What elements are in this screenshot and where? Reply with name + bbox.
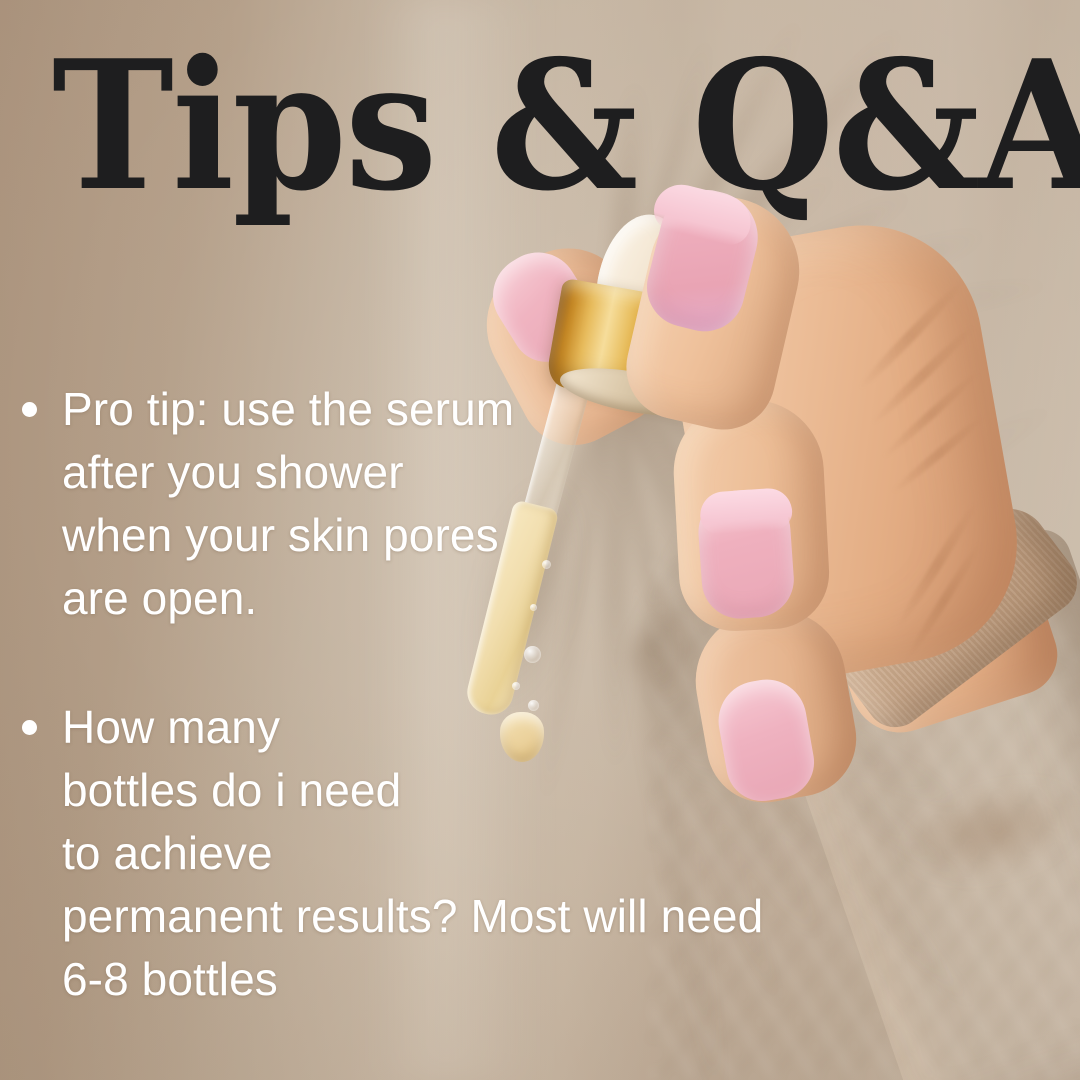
bullet-line: 6-8 bottles [62, 948, 763, 1011]
bullet-line: bottles do i need [62, 759, 763, 822]
bullet-line: when your skin pores [62, 504, 514, 567]
bullet-text-block: Pro tip: use the serum after you shower … [62, 378, 514, 630]
bullet-line: permanent results? Most will need [62, 885, 763, 948]
list-item: Pro tip: use the serum after you shower … [22, 378, 514, 630]
bullet-text-block: How many bottles do i need to achieve pe… [62, 696, 763, 1011]
bullet-line: Pro tip: use the serum [62, 378, 514, 441]
bullet-dot-icon [22, 402, 37, 417]
bullet-dot-icon [22, 720, 37, 735]
copy-layer: Pro tip: use the serum after you shower … [0, 0, 1080, 1080]
bullet-line: to achieve [62, 822, 763, 885]
list-item: How many bottles do i need to achieve pe… [22, 696, 763, 1011]
bullet-line: are open. [62, 567, 514, 630]
bullet-line: How many [62, 696, 763, 759]
bullet-line: after you shower [62, 441, 514, 504]
social-post-canvas: Tips & Q&A [0, 0, 1080, 1080]
